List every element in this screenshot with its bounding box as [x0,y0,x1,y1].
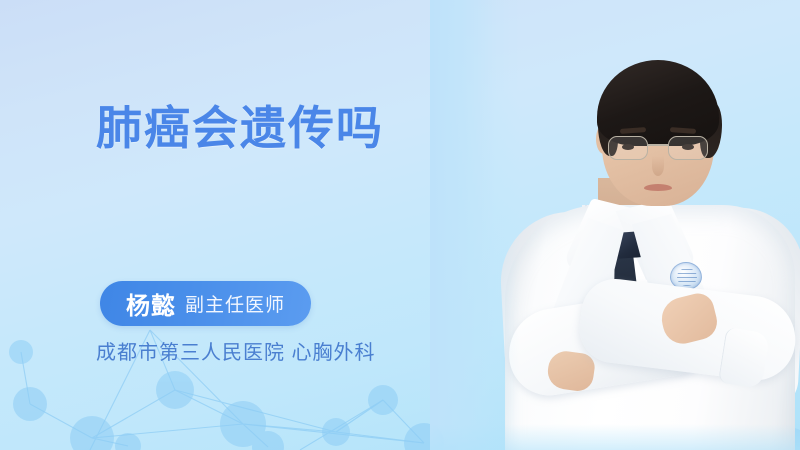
doctor-portrait [430,0,800,450]
lens-right [668,136,708,160]
glasses-bridge [648,144,668,146]
doctor-professional-title: 副主任医师 [185,290,285,317]
hair [597,60,719,146]
portrait-edge-fade-left [430,0,520,450]
portrait-edge-fade-bottom [430,424,800,450]
nose [652,156,664,176]
hospital-emblem-inner [677,268,697,286]
doctor-intro-card: 肺癌会遗传吗 杨懿 副主任医师 成都市第三人民医院 心胸外科 [0,0,800,450]
page-title: 肺癌会遗传吗 [96,92,384,158]
mouth [644,184,672,191]
lens-left [608,136,648,160]
doctor-affiliation: 成都市第三人民医院 心胸外科 [96,336,376,365]
doctor-credential-badge: 杨懿 副主任医师 [100,281,311,326]
doctor-name: 杨懿 [126,286,176,321]
